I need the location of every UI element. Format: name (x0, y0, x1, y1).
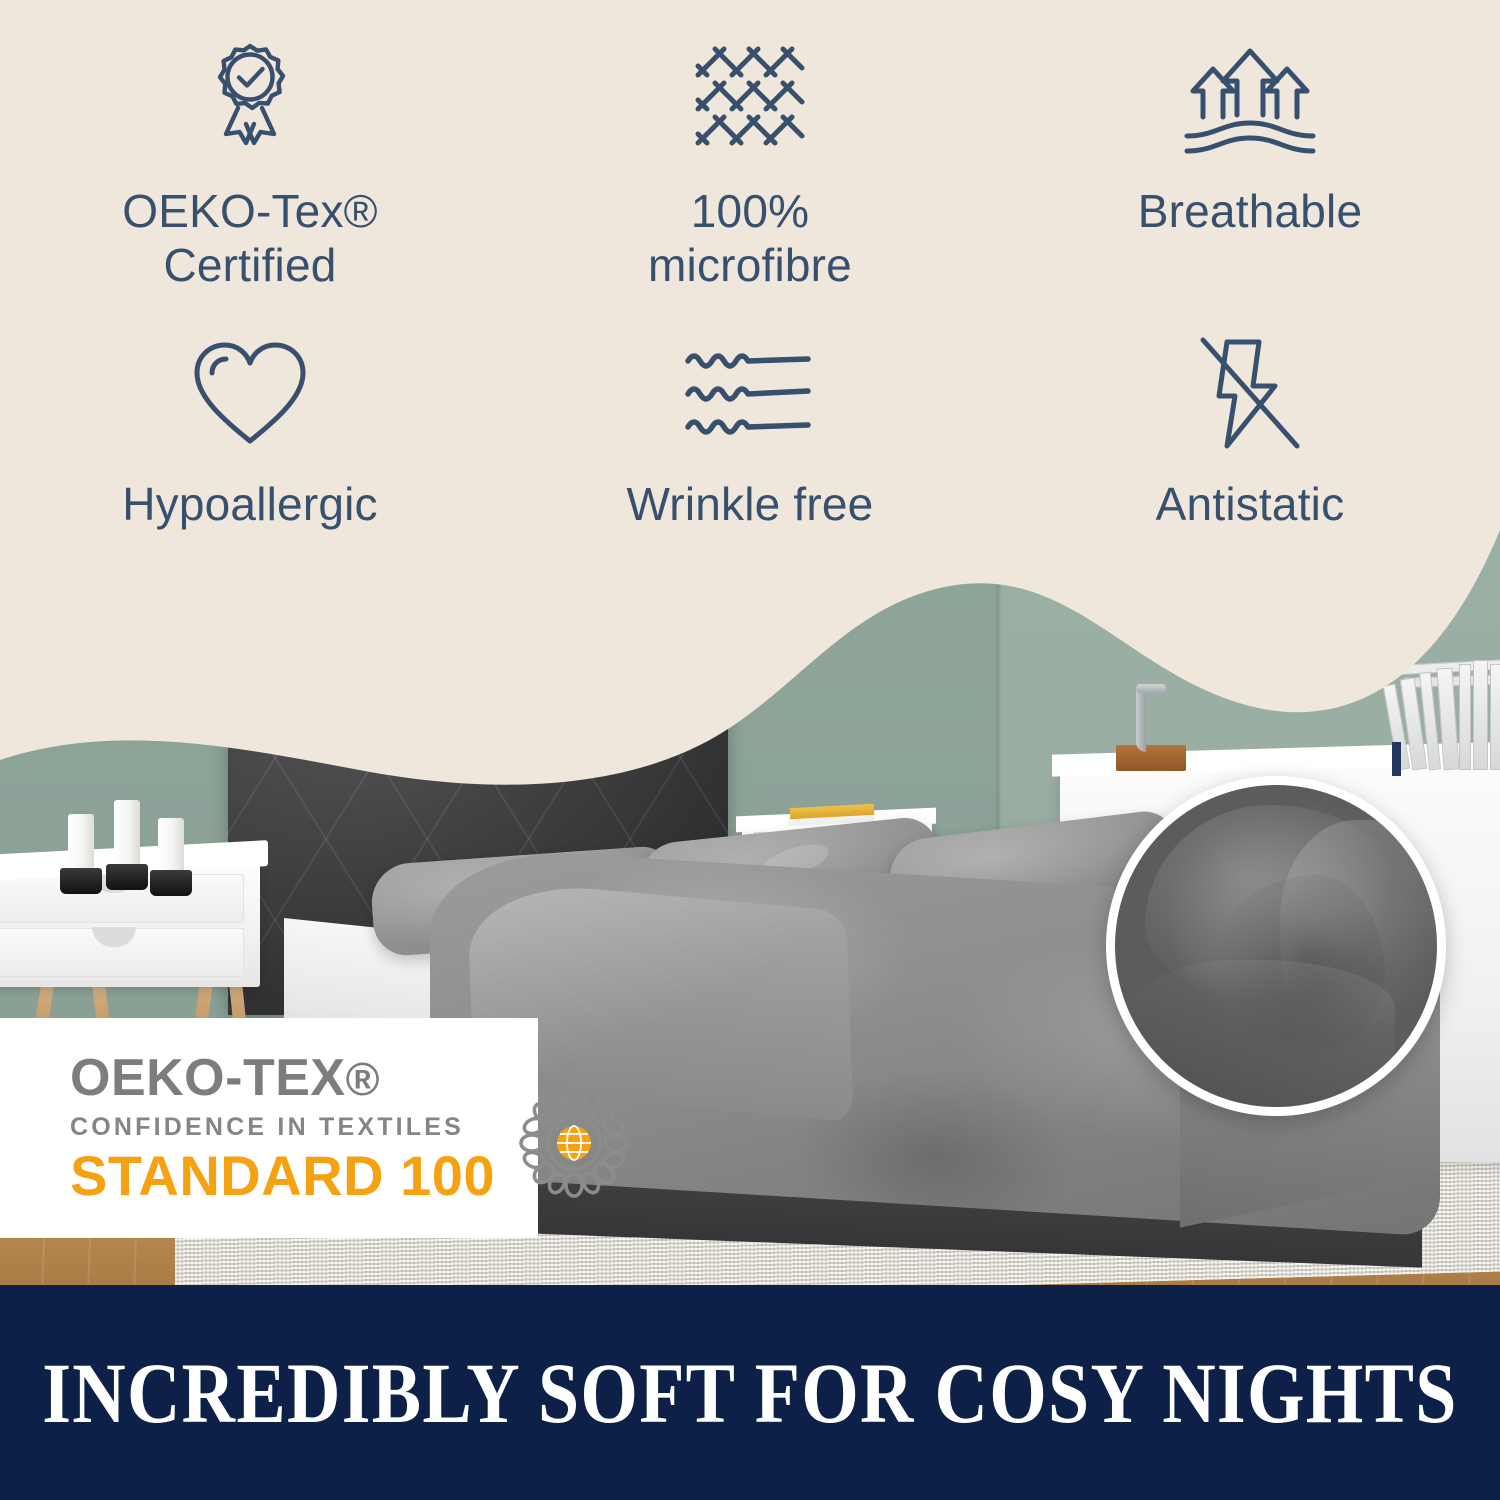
drawer (0, 928, 244, 977)
woven-fabric-icon (680, 36, 820, 166)
oeko-tex-standard: STANDARD 100 (70, 1148, 495, 1204)
lamp-wooden-base (1116, 745, 1186, 771)
feature-label: Breathable (1138, 184, 1363, 238)
oeko-tex-globe-emblem (519, 1088, 629, 1203)
heart-icon (185, 329, 315, 459)
feature-grid: OEKO-Tex® Certified (0, 0, 1500, 531)
feature-label: 100% microfibre (648, 184, 852, 293)
oeko-tex-certification-label: OEKO-TEX® CONFIDENCE IN TEXTILES STANDAR… (0, 1018, 538, 1238)
feature-label-line: OEKO-Tex® (122, 184, 378, 238)
oeko-tex-subtitle: CONFIDENCE IN TEXTILES (70, 1113, 495, 1142)
lamp-arm-joint (1136, 684, 1166, 693)
feature-label-line: Hypoallergic (122, 477, 378, 531)
feature-hypoallergic: Hypoallergic (0, 329, 500, 531)
banner-headline: INCREDIBLY SOFT FOR COSY NIGHTS (42, 1343, 1457, 1443)
book-row (1386, 655, 1500, 770)
feature-label-line: microfibre (648, 238, 852, 292)
product-infographic: OEKO-Tex® Certified (0, 0, 1500, 1500)
registered-mark: ® (346, 1053, 380, 1105)
feature-100-microfibre: 100% microfibre (500, 36, 1000, 293)
breathable-arrows-icon (1175, 36, 1325, 166)
antistatic-bolt-icon (1191, 329, 1309, 459)
feature-oeko-tex-certified: OEKO-Tex® Certified (0, 36, 500, 293)
feature-label: OEKO-Tex® Certified (122, 184, 378, 293)
wrinkle-free-lines-icon (680, 329, 820, 459)
feature-wrinkle-free: Wrinkle free (500, 329, 1000, 531)
oeko-tex-title-text: OEKO-TEX (70, 1049, 346, 1107)
feature-label: Antistatic (1156, 477, 1345, 531)
feature-label-line: Wrinkle free (627, 477, 874, 531)
fabric-closeup-circle (1106, 776, 1446, 1116)
feature-label-line: Breathable (1138, 184, 1363, 238)
bottom-banner: INCREDIBLY SOFT FOR COSY NIGHTS (0, 1285, 1500, 1500)
feature-label: Hypoallergic (122, 477, 378, 531)
feature-row-1: OEKO-Tex® Certified (0, 36, 1500, 293)
feature-antistatic: Antistatic (1000, 329, 1500, 531)
feature-label-line: Antistatic (1156, 477, 1345, 531)
blue-book (1392, 742, 1401, 776)
feature-breathable: Breathable (1000, 36, 1500, 293)
feature-label: Wrinkle free (627, 477, 874, 531)
certified-rosette-icon (194, 36, 306, 166)
feature-label-line: 100% (648, 184, 852, 238)
oeko-tex-text-block: OEKO-TEX® CONFIDENCE IN TEXTILES STANDAR… (70, 1052, 495, 1204)
feature-label-line: Certified (122, 238, 378, 292)
oeko-tex-title: OEKO-TEX® (70, 1052, 495, 1104)
lamp-arm (1136, 690, 1146, 752)
feature-row-2: Hypoallergic Wrinkle free (0, 329, 1500, 531)
